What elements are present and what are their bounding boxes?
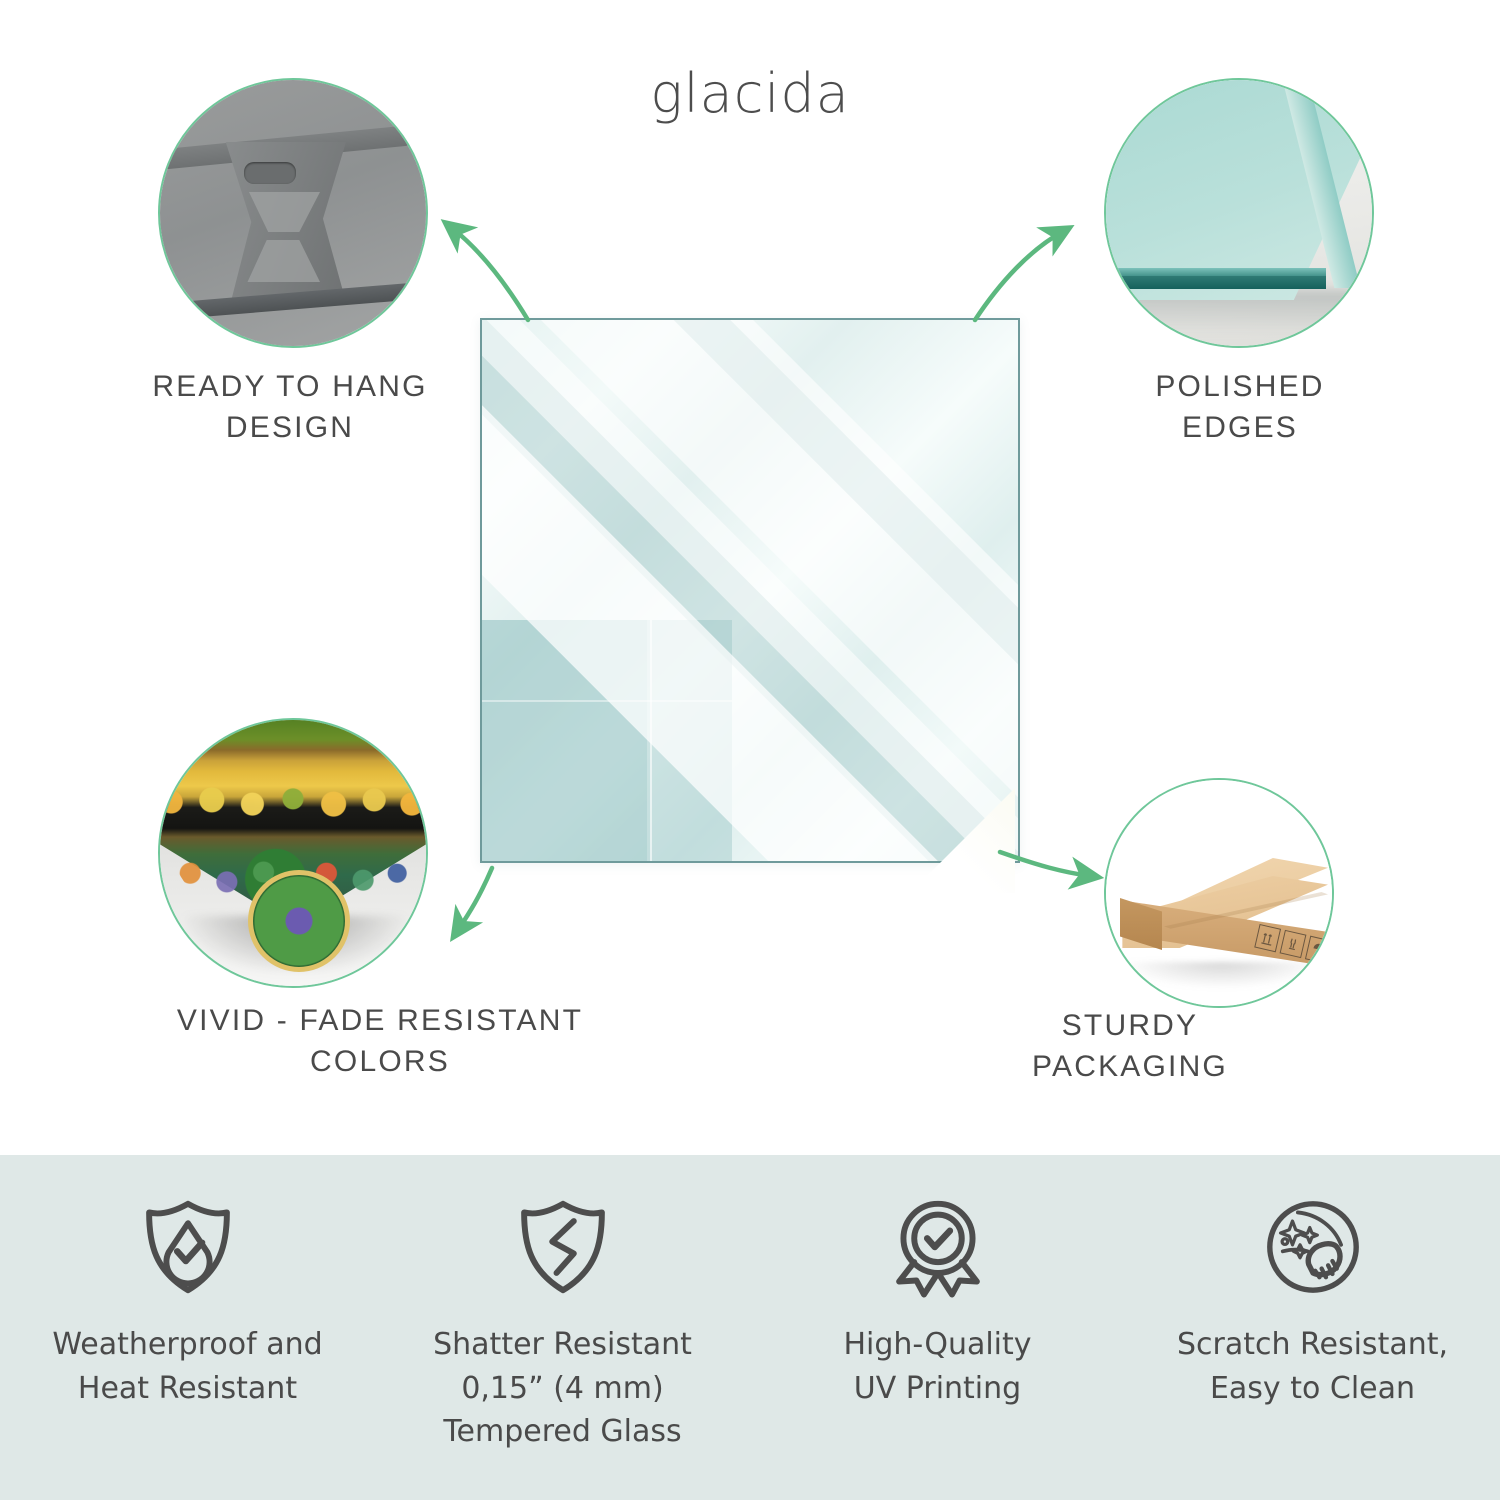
fragile-glass-icon [1280,930,1307,958]
feature-label-line2: PACKAGING [900,1046,1360,1087]
feature-label-line1: STURDY [900,1005,1360,1046]
benefit-line3: Tempered Glass [433,1410,692,1454]
feature-label-line1: VIVID - FADE RESISTANT [40,1000,720,1041]
shield-droplet-check-icon [134,1193,242,1301]
artwork-mosaic-row-upper [158,776,428,828]
feature-label-polished-edges: POLISHED EDGES [1010,366,1470,449]
award-badge-check-icon [884,1193,992,1301]
feature-image-sturdy-packaging [1104,778,1334,1008]
arrow-to-polished-edges [975,232,1062,320]
polished-edge-core [1104,276,1326,289]
benefit-shatter-resistant: Shatter Resistant 0,15” (4 mm) Tempered … [375,1155,750,1500]
feature-image-vivid-colors [158,718,428,988]
feature-label-line2: EDGES [1010,407,1470,448]
bracket-keyhole [244,162,296,184]
product-infographic: glacida [0,0,1500,1500]
feature-label-ready-to-hang: READY TO HANG DESIGN [40,366,540,449]
benefit-line2: 0,15” (4 mm) [433,1367,692,1411]
benefit-label: Scratch Resistant, Easy to Clean [1177,1323,1448,1410]
hand-wipe-sparkle-icon [1259,1193,1367,1301]
arrow-to-vivid-colors [458,868,492,930]
feature-label-vivid-colors: VIVID - FADE RESISTANT COLORS [40,1000,720,1083]
benefit-line1: Shatter Resistant [433,1323,692,1367]
box-cast-shadow [1122,962,1322,988]
feature-image-polished-edges [1104,78,1374,348]
artwork-medallion [248,870,350,972]
benefit-line1: Scratch Resistant, [1177,1323,1448,1367]
benefits-band: Weatherproof and Heat Resistant Shatter … [0,1155,1500,1500]
benefit-label: High-Quality UV Printing [843,1323,1031,1410]
benefit-label: Weatherproof and Heat Resistant [52,1323,322,1410]
feature-label-line2: DESIGN [40,407,540,448]
glass-panel-illustration [480,318,1020,863]
benefit-line2: UV Printing [843,1367,1031,1411]
arrow-to-ready-to-hang [452,228,528,320]
feature-label-line2: COLORS [40,1041,720,1082]
benefit-scratch-resistant: Scratch Resistant, Easy to Clean [1125,1155,1500,1500]
benefit-uv-printing: High-Quality UV Printing [750,1155,1125,1500]
shield-crack-icon [509,1193,617,1301]
feature-label-sturdy-packaging: STURDY PACKAGING [900,1005,1360,1088]
tempered-glass-panel [480,318,1020,863]
feature-label-line1: POLISHED [1010,366,1470,407]
this-way-up-icon [1254,924,1281,952]
benefit-line1: Weatherproof and [52,1323,322,1367]
benefit-weatherproof: Weatherproof and Heat Resistant [0,1155,375,1500]
benefit-label: Shatter Resistant 0,15” (4 mm) Tempered … [433,1323,692,1454]
benefit-line2: Easy to Clean [1177,1367,1448,1411]
benefit-line1: High-Quality [843,1323,1031,1367]
benefit-line2: Heat Resistant [52,1367,322,1411]
feature-image-ready-to-hang [158,78,428,348]
feature-label-line1: READY TO HANG [40,366,540,407]
